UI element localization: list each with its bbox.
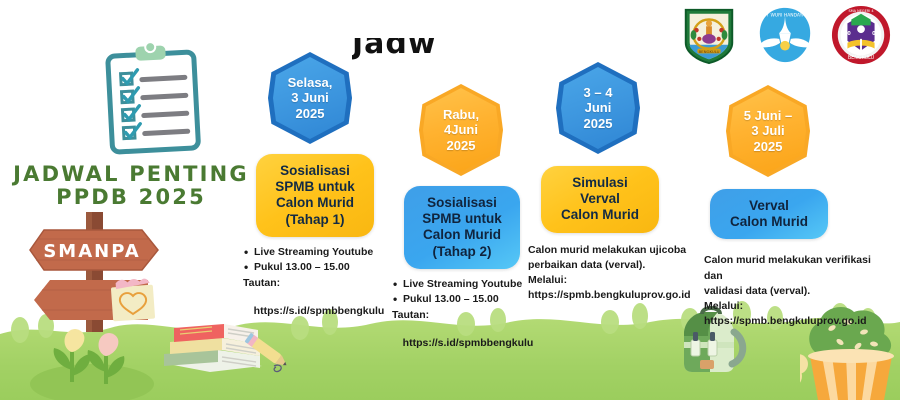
event-pill-4: Verval Calon Murid — [710, 189, 828, 239]
signpost-decoration: SMANPA — [20, 212, 170, 337]
page-title: JADWAL PENTING PPDB 2025 — [8, 163, 254, 208]
card-detail-3: Calon murid melakukan ujicoba perbaikan … — [528, 243, 700, 304]
tautan-label-1: Tautan: — [243, 276, 395, 291]
svg-text:BENGKULU: BENGKULU — [848, 55, 875, 61]
list-item: Pukul 13.00 – 15.00 — [392, 292, 544, 307]
card-detail-4: Calon murid melakukan verifikasi dan val… — [704, 253, 884, 329]
pencil-icon — [240, 330, 294, 376]
svg-text:SMA NEGERI 4: SMA NEGERI 4 — [848, 9, 874, 13]
card-link-3[interactable]: https://spmb.bengkuluprov.go.id — [528, 288, 700, 303]
detail-line: perbaikan data (verval). — [528, 258, 700, 273]
event-pill-3: Simulasi Verval Calon Murid — [541, 166, 659, 233]
card-detail-1: Live Streaming Youtube Pukul 13.00 – 15.… — [243, 245, 395, 320]
title-line-2: PPDB 2025 — [8, 186, 254, 209]
detail-line: Melalui: — [704, 299, 884, 314]
svg-text:BENGKULU: BENGKULU — [699, 49, 720, 54]
list-item: Pukul 13.00 – 15.00 — [243, 260, 395, 275]
event-pill-1: Sosialisasi SPMB untuk Calon Murid (Taha… — [256, 154, 374, 237]
list-item: Live Streaming Youtube — [243, 245, 395, 260]
detail-line: Calon murid melakukan ujicoba — [528, 243, 700, 258]
clipboard-checklist-icon — [92, 38, 216, 162]
date-badge-label-4: 5 Juni – 3 Juli 2025 — [744, 108, 792, 153]
card-link-1[interactable]: https://s.id/spmbbengkulu — [243, 304, 395, 319]
bullet-list-2: Live Streaming Youtube Pukul 13.00 – 15.… — [392, 277, 544, 307]
date-badge-2: Rabu, 4Juni 2025 — [419, 84, 503, 176]
signpost-label: SMANPA — [43, 241, 140, 262]
sman4-bengkulu-emblem-icon: 20 06 BENGKULU SMA NEGERI 4 — [830, 4, 892, 66]
date-badge-label-3: 3 – 4 Juni 2025 — [584, 85, 613, 130]
card-link-4[interactable]: https://spmb.bengkuluprov.go.id — [704, 314, 884, 329]
logo-row: BENGKULU TUT WURI HANDAYANI 20 06 BENG — [678, 4, 892, 66]
svg-text:06: 06 — [872, 31, 879, 37]
list-item: Live Streaming Youtube — [392, 277, 544, 292]
tut-wuri-handayani-emblem-icon: TUT WURI HANDAYANI — [754, 4, 816, 66]
card-link-2[interactable]: https://s.id/spmbbengkulu — [392, 336, 544, 351]
date-badge-3: 3 – 4 Juni 2025 — [556, 62, 640, 154]
timeline-card-1: Selasa, 3 Juni 2025 Sosialisasi SPMB unt… — [243, 52, 395, 320]
bullet-list-1: Live Streaming Youtube Pukul 13.00 – 15.… — [243, 245, 395, 275]
timeline-card-4: 5 Juni – 3 Juli 2025 Verval Calon Murid … — [704, 85, 884, 329]
event-pill-2: Sosialisasi SPMB untuk Calon Murid (Taha… — [404, 186, 520, 269]
date-badge-label-2: Rabu, 4Juni 2025 — [443, 107, 479, 152]
bengkulu-province-emblem-icon: BENGKULU — [678, 4, 740, 66]
date-badge-label-1: Selasa, 3 Juni 2025 — [288, 75, 333, 120]
svg-text:TUT WURI HANDAYANI: TUT WURI HANDAYANI — [759, 13, 809, 19]
date-badge-4: 5 Juni – 3 Juli 2025 — [726, 85, 810, 177]
svg-text:20: 20 — [844, 31, 851, 37]
tautan-label-2: Tautan: — [392, 308, 544, 323]
detail-line: Calon murid melakukan verifikasi dan — [704, 253, 884, 283]
timeline-card-2: Rabu, 4Juni 2025 Sosialisasi SPMB untuk … — [392, 84, 544, 352]
timeline-card-3: 3 – 4 Juni 2025 Simulasi Verval Calon Mu… — [528, 62, 700, 303]
title-line-1: JADWAL PENTING — [8, 163, 254, 186]
date-badge-1: Selasa, 3 Juni 2025 — [268, 52, 352, 144]
detail-line: validasi data (verval). — [704, 284, 884, 299]
detail-line: Melalui: — [528, 273, 700, 288]
poster-canvas: BENGKULU TUT WURI HANDAYANI 20 06 BENG — [0, 0, 900, 400]
card-detail-2: Live Streaming Youtube Pukul 13.00 – 15.… — [392, 277, 544, 352]
